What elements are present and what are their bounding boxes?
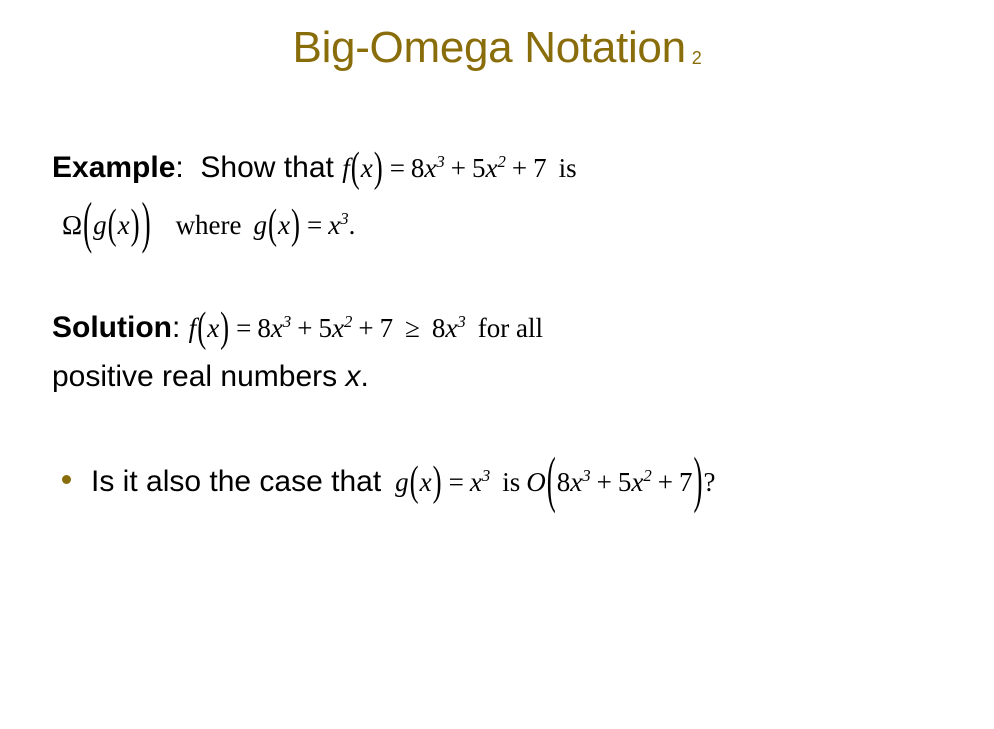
b-math-coef-8: 8: [557, 467, 571, 497]
math-omega-close-paren: ): [141, 181, 152, 265]
b-math-coef-5: 5: [618, 467, 632, 497]
b-math-const-7: 7: [679, 467, 693, 497]
sol-math-equals: =: [236, 313, 251, 343]
example-omega-expression: Ω(g(x))whereg(x)=x3.: [62, 205, 355, 245]
example-line-1: Example: Show that f(x)=8x3+5x2+7is: [52, 148, 577, 188]
b-math-exp-3: 3: [482, 466, 490, 485]
solution-inequality: f(x)=8x3+5x2+7≥8x3for all: [189, 308, 543, 348]
math-g-exp-3: 3: [340, 209, 348, 228]
sol-math-for-all: for all: [478, 313, 543, 343]
b-math-bigo: O: [526, 467, 546, 497]
solution-colon: :: [172, 311, 180, 344]
sol-math-f: f: [189, 313, 197, 343]
math-const-7: 7: [533, 153, 547, 183]
b-math-open-paren: (: [546, 433, 557, 525]
b-math-var-x2: x: [631, 467, 643, 497]
sol-math-close-paren: ): [219, 296, 230, 358]
b-math-equals: =: [449, 467, 464, 497]
sol-math-exp-3: 3: [283, 312, 291, 331]
math-g2-arg-x: x: [278, 210, 290, 240]
bullet-text: Is it also the case that: [91, 462, 381, 502]
math-g2-open-paren: (: [267, 193, 278, 255]
math-exp-2: 2: [498, 152, 506, 171]
math-open-paren: (: [350, 136, 361, 198]
sol-math-rhs-exp: 3: [457, 312, 465, 331]
solution-line2-period: .: [360, 360, 368, 393]
b-math-exp1: 3: [582, 466, 590, 485]
math-g2-close-paren: ): [290, 193, 301, 255]
sol-math-geq: ≥: [405, 313, 420, 343]
math-coef-8: 8: [411, 153, 425, 183]
b-math-question: ?: [703, 467, 715, 497]
b-math-exp2: 2: [643, 466, 651, 485]
math-g-equals: =: [307, 210, 322, 240]
math-g: g: [93, 210, 107, 240]
example-label: Example: [52, 151, 175, 184]
bullet-math-expression: g(x)=x3isO(8x3+5x2+7)?: [395, 462, 715, 502]
example-equation-fx: f(x)=8x3+5x2+7is: [342, 148, 576, 188]
bullet-item: Is it also the case that g(x)=x3isO(8x3+…: [62, 462, 715, 502]
slide-body: Example: Show that f(x)=8x3+5x2+7is Ω(g(…: [0, 0, 994, 729]
math-g-open-paren: (: [107, 193, 118, 255]
b-math-g-arg: x: [420, 467, 432, 497]
math-omega-open-paren: (: [82, 181, 93, 265]
solution-line-1: Solution: f(x)=8x3+5x2+7≥8x3for all: [52, 308, 543, 348]
math-f: f: [342, 153, 350, 183]
solution-line2-prefix: positive real numbers: [52, 360, 345, 393]
math-exp-3: 3: [436, 152, 444, 171]
sol-math-var-x2: x: [332, 313, 344, 343]
b-math-g-close: ): [432, 450, 443, 512]
sol-math-plus-1: +: [297, 313, 312, 343]
example-colon: :: [175, 151, 183, 184]
math-period: .: [349, 210, 356, 240]
math-close-paren: ): [373, 136, 384, 198]
solution-line2-variable: x: [345, 360, 360, 393]
math-plus-2: +: [512, 153, 527, 183]
b-math-plus-2: +: [658, 467, 673, 497]
example-statement: Show that: [200, 151, 333, 184]
math-g-var-x: x: [328, 210, 340, 240]
math-equals: =: [390, 153, 405, 183]
sol-math-const-7: 7: [380, 313, 394, 343]
math-word-is: is: [559, 153, 577, 183]
math-g2: g: [254, 210, 268, 240]
sol-math-arg-x: x: [207, 313, 219, 343]
math-omega: Ω: [62, 210, 82, 240]
sol-math-var-x1: x: [271, 313, 283, 343]
math-plus-1: +: [451, 153, 466, 183]
math-coef-5: 5: [472, 153, 486, 183]
b-math-g-open: (: [409, 450, 420, 512]
solution-line-2: positive real numbers x.: [52, 357, 369, 397]
b-math-g: g: [395, 467, 409, 497]
sol-math-exp-2: 2: [344, 312, 352, 331]
b-math-var-x1: x: [570, 467, 582, 497]
math-g-arg-x: x: [118, 210, 130, 240]
math-arg-x: x: [361, 153, 373, 183]
sol-math-plus-2: +: [358, 313, 373, 343]
b-math-word-is: is: [502, 467, 520, 497]
sol-math-coef-5: 5: [319, 313, 333, 343]
math-word-where: where: [176, 210, 242, 240]
sol-math-coef-8: 8: [257, 313, 271, 343]
math-g-close-paren: ): [130, 193, 141, 255]
example-line-2: Ω(g(x))whereg(x)=x3.: [62, 205, 355, 245]
bullet-row: Is it also the case that g(x)=x3isO(8x3+…: [62, 462, 715, 502]
b-math-plus-1: +: [597, 467, 612, 497]
sol-math-open-paren: (: [196, 296, 207, 358]
b-math-var-x: x: [470, 467, 482, 497]
b-math-close-paren: ): [692, 433, 703, 525]
solution-label: Solution: [52, 311, 172, 344]
sol-math-rhs-var: x: [445, 313, 457, 343]
math-var-x1: x: [424, 153, 436, 183]
bullet-dot-icon: [62, 475, 71, 484]
math-var-x2: x: [486, 153, 498, 183]
sol-math-rhs-coef: 8: [432, 313, 446, 343]
